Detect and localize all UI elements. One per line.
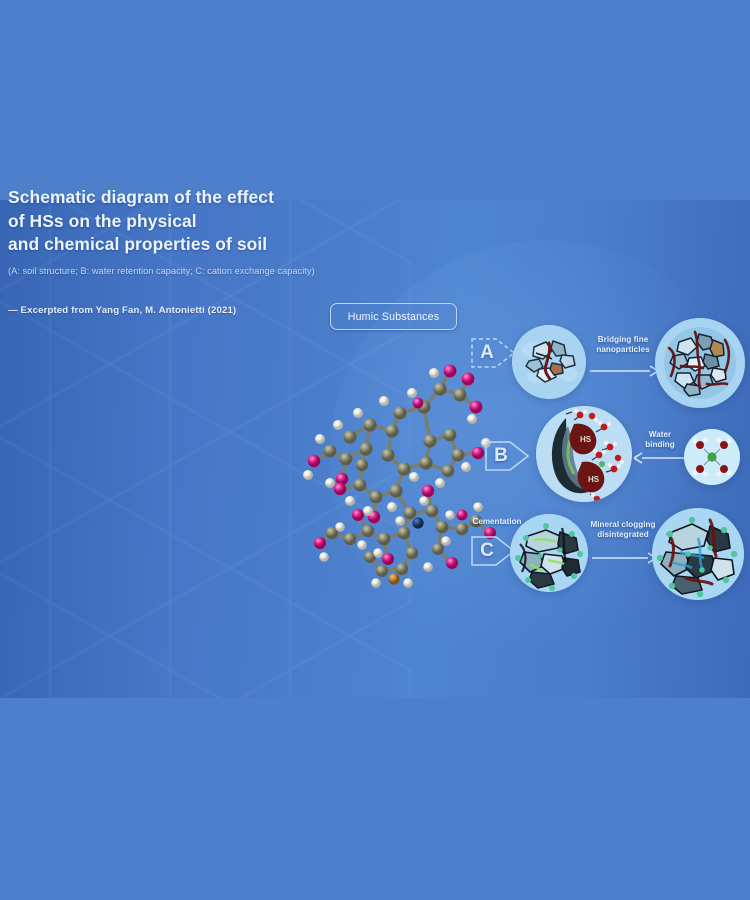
flow-c: Mineral clogging disintegrated bbox=[590, 520, 656, 572]
bubble-hs-coated-mineral-with-water: HS HS bbox=[536, 406, 632, 502]
cementation-label: Cementation bbox=[466, 517, 528, 527]
bubble-hydrated-cation-cluster bbox=[684, 429, 740, 485]
poster-canvas: Schematic diagram of the effect of HSs o… bbox=[0, 0, 750, 900]
page-title: Schematic diagram of the effect of HSs o… bbox=[8, 186, 338, 257]
hs-blob-1-label: HS bbox=[580, 435, 592, 444]
flow-a: Bridging fine nanoparticles bbox=[588, 335, 658, 385]
bubble-soil-aggregate-loose bbox=[512, 325, 586, 399]
bubble-disintegrated-mineral-aggregate bbox=[652, 508, 744, 600]
title-line-2: of HSs on the physical bbox=[8, 211, 197, 231]
flow-c-label: Mineral clogging disintegrated bbox=[590, 520, 656, 539]
row-marker-a-label: A bbox=[470, 332, 504, 374]
bubble-cemented-mineral-aggregate bbox=[510, 514, 588, 592]
hs-blob-2-label: HS bbox=[588, 475, 600, 484]
flow-b: Water binding bbox=[634, 430, 686, 472]
row-marker-a: A bbox=[470, 332, 516, 374]
row-marker-b: B bbox=[484, 435, 530, 477]
text-block: Schematic diagram of the effect of HSs o… bbox=[8, 186, 338, 316]
row-marker-c-label: C bbox=[470, 530, 504, 572]
title-line-3: and chemical properties of soil bbox=[8, 234, 267, 254]
flow-a-label: Bridging fine nanoparticles bbox=[588, 335, 658, 354]
bubble-soil-aggregate-bridged bbox=[655, 318, 745, 408]
flow-b-label: Water binding bbox=[634, 430, 686, 449]
row-marker-b-label: B bbox=[484, 435, 518, 477]
subtitle-legend: (A: soil structure; B: water retention c… bbox=[8, 265, 338, 278]
source-credit: — Excerpted from Yang Fan, M. Antonietti… bbox=[8, 305, 338, 316]
title-line-1: Schematic diagram of the effect bbox=[8, 187, 274, 207]
